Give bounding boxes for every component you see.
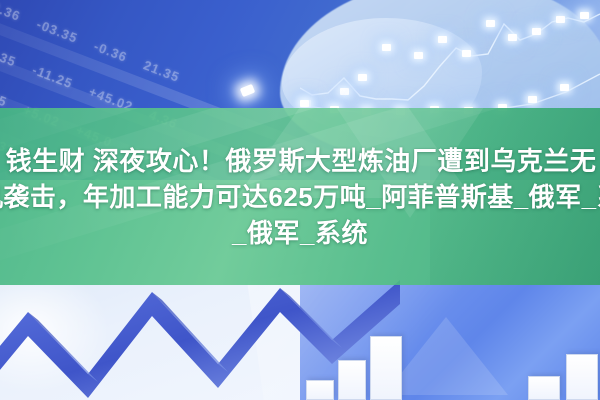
chart-node	[560, 84, 569, 91]
chart-node	[340, 88, 349, 95]
chart-node	[532, 28, 541, 35]
bar-item	[528, 376, 560, 400]
chart-node	[462, 50, 471, 57]
bar-item	[338, 360, 366, 400]
chart-node	[300, 100, 309, 107]
chart-node	[508, 34, 517, 41]
chart-node	[528, 96, 537, 103]
line-chart-graphic	[300, 0, 600, 125]
chart-node	[358, 74, 367, 81]
headline-line-3: _俄军_系统	[232, 215, 368, 251]
chart-node	[382, 44, 391, 51]
chart-node	[556, 16, 565, 23]
bar-item	[566, 354, 598, 400]
bar-item	[370, 336, 402, 400]
chart-node	[414, 52, 423, 59]
news-thumbnail: -02.36 -03.35 -0.36 21.35 +16 22.35 -11.…	[0, 0, 600, 400]
chart-node	[580, 12, 589, 19]
headline-text: 钱生财 深夜攻心！俄罗斯大型炼油厂遭到乌克兰无 人机袭击，年加工能力可达625万…	[0, 108, 600, 285]
chart-node	[438, 36, 447, 43]
chart-node	[486, 20, 495, 27]
bar-item	[306, 380, 334, 400]
headline-line-1: 钱生财 深夜攻心！俄罗斯大型炼油厂遭到乌克兰无	[6, 143, 597, 179]
headline-line-2: 人机袭击，年加工能力可达625万吨_阿菲普斯基_俄军_系统	[0, 179, 600, 215]
bar-chart-graphic	[300, 300, 600, 400]
